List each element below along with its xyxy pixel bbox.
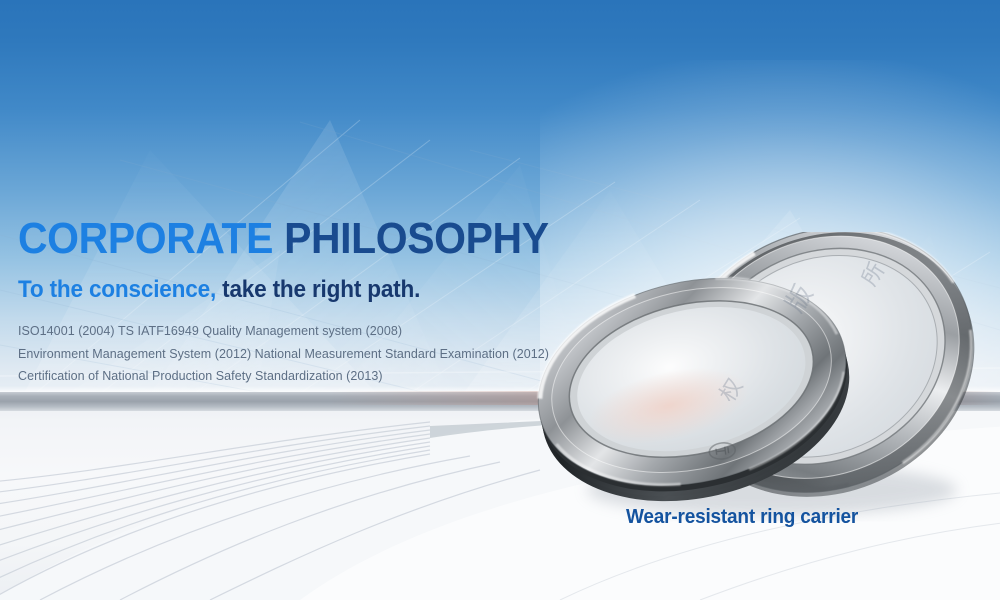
certification-line: ISO14001 (2004) TS IATF16949 Quality Man… bbox=[18, 320, 638, 343]
page-title-dark: PHILOSOPHY bbox=[284, 214, 549, 263]
plaza-curve-lines bbox=[0, 392, 1000, 600]
corporate-philosophy-banner: 版 权 所 CORPORATE PHILOSOPHY To the consci… bbox=[0, 0, 1000, 600]
product-caption: Wear-resistant ring carrier bbox=[626, 506, 858, 529]
page-title-space bbox=[273, 214, 284, 263]
certification-line: Certification of National Production Saf… bbox=[18, 365, 638, 388]
certifications-list: ISO14001 (2004) TS IATF16949 Quality Man… bbox=[18, 320, 638, 388]
page-subtitle: To the conscience, take the right path. bbox=[18, 276, 601, 304]
certification-line: Environment Management System (2012) Nat… bbox=[18, 343, 638, 366]
page-subtitle-accent: To the conscience, bbox=[18, 276, 216, 303]
page-title: CORPORATE PHILOSOPHY bbox=[18, 214, 595, 264]
page-subtitle-dark: take the right path. bbox=[222, 276, 420, 303]
headline-text-block: CORPORATE PHILOSOPHY To the conscience, … bbox=[18, 214, 638, 388]
rail-warm-reflection bbox=[330, 391, 1000, 405]
page-title-accent: CORPORATE bbox=[18, 214, 273, 263]
